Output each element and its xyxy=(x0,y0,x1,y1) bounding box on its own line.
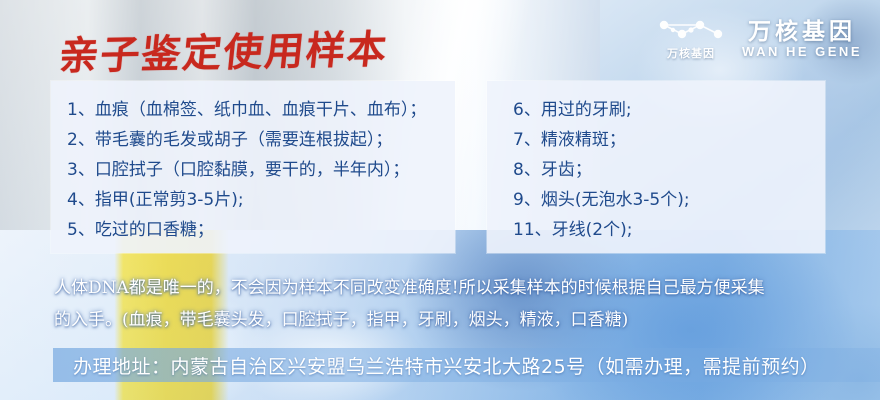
promo-banner: 亲子鉴定使用样本 万核基因 xyxy=(0,0,880,400)
list-item: 4、指甲(正常剪3-5片); xyxy=(67,185,455,215)
sample-list-left: 1、血痕（血棉签、纸巾血、血痕干片、血布）； 2、带毛囊的毛发或胡子（需要连根拔… xyxy=(51,81,455,245)
list-item: 6、用过的牙刷; xyxy=(503,95,825,125)
description-paragraph: 人体DNA都是唯一的，不会因为样本不同改变准确度!所以采集样本的时候根据自己最方… xyxy=(54,272,844,336)
list-item: 8、牙齿； xyxy=(503,155,825,185)
list-item: 5、吃过的口香糖； xyxy=(67,215,455,245)
sample-list-left-panel: 1、血痕（血棉签、纸巾血、血痕干片、血布）； 2、带毛囊的毛发或胡子（需要连根拔… xyxy=(51,81,455,253)
sample-list-right-panel: 6、用过的牙刷; 7、精液精斑； 8、牙齿； 9、烟头(无泡水3-5个); 11… xyxy=(487,81,825,253)
brand-name-en: WAN HE GENE xyxy=(742,45,862,60)
list-item: 3、口腔拭子（口腔黏膜，要干的，半年内）； xyxy=(67,155,455,185)
list-item: 9、烟头(无泡水3-5个); xyxy=(503,185,825,215)
address-bar: 办理地址：内蒙古自治区兴安盟乌兰浩特市兴安北大路25号（如需办理，需提前预约） xyxy=(53,348,880,382)
list-item: 11、牙线(2个); xyxy=(503,215,825,245)
list-item: 2、带毛囊的毛发或胡子（需要连根拔起）； xyxy=(67,125,455,155)
description-line-1: 人体DNA都是唯一的，不会因为样本不同改变准确度!所以采集样本的时候根据自己最方… xyxy=(54,272,844,304)
dna-molecule-icon: 万核基因 xyxy=(654,14,728,64)
description-line-2: 的入手。(血痕，带毛囊头发，口腔拭子，指甲，牙刷，烟头，精液，口香糖) xyxy=(54,304,844,336)
brand-name-cn: 万核基因 xyxy=(748,19,856,45)
list-item: 7、精液精斑； xyxy=(503,125,825,155)
logo-mark-label: 万核基因 xyxy=(667,45,715,61)
brand-wordmark: 万核基因 WAN HE GENE xyxy=(742,19,862,59)
brand-logo: 万核基因 万核基因 WAN HE GENE xyxy=(654,14,862,64)
address-text: 办理地址：内蒙古自治区兴安盟乌兰浩特市兴安北大路25号（如需办理，需提前预约） xyxy=(53,352,820,379)
page-title: 亲子鉴定使用样本 xyxy=(57,19,391,82)
sample-list-right: 6、用过的牙刷; 7、精液精斑； 8、牙齿； 9、烟头(无泡水3-5个); 11… xyxy=(487,81,825,245)
list-item: 1、血痕（血棉签、纸巾血、血痕干片、血布）； xyxy=(67,95,455,125)
